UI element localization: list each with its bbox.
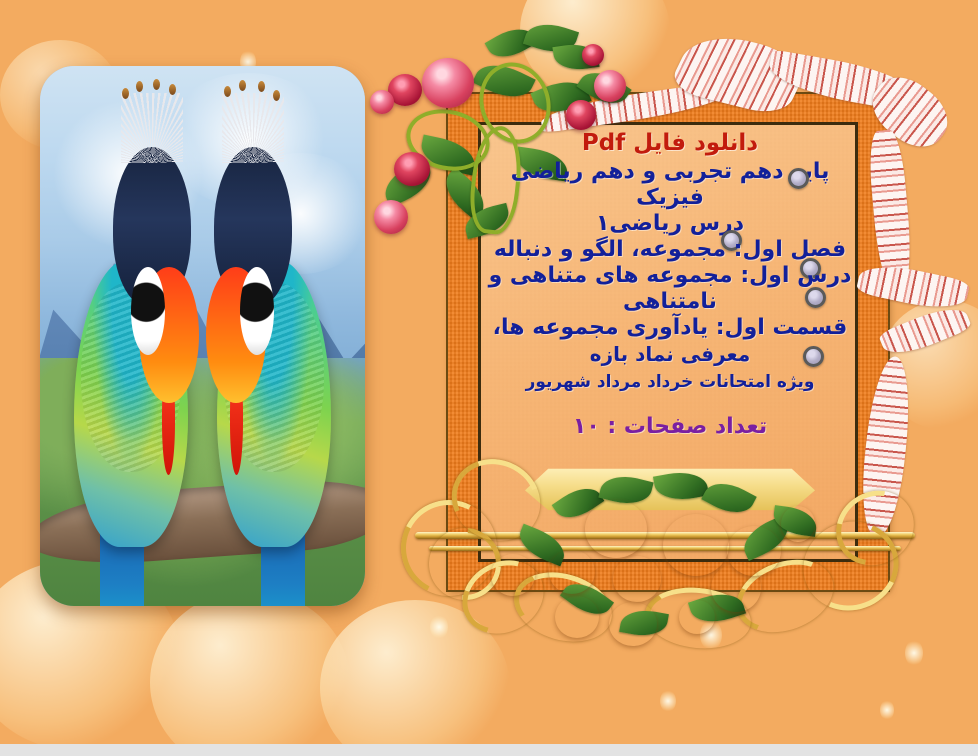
bird-crest [222,93,284,163]
bokeh-blob [150,590,350,744]
bird-eye [240,267,274,355]
poster-canvas: دانلود فایل Pdf پایه دهم تجربی و دهم ریا… [0,0,978,744]
bokeh-blob [880,300,978,430]
rose [394,152,430,186]
bird-left [66,147,196,547]
text-line-lesson-cont: نامتناهی [470,289,870,315]
rose [555,596,599,638]
text-line-exam-note: ویژه امتحانات خرداد مرداد شهریور [470,372,870,392]
rose [422,58,474,108]
sparkle [880,700,894,720]
text-line-lesson: درس اول: مجموعه های متناهی و [470,263,870,289]
bird-eye [131,267,165,355]
page-count: تعداد صفحات : ۱۰ [470,414,870,440]
rose [609,602,657,646]
bottom-gray-strip [0,744,978,756]
bird-photo [40,66,365,606]
gold-scroll-arm [642,583,754,654]
sparkle [905,640,923,666]
text-line-interval: معرفی نماد بازه [470,343,870,367]
bird-right [209,147,339,547]
rose [679,600,715,634]
page-title: دانلود فایل Pdf [470,130,870,157]
sparkle [430,615,448,639]
text-line-part: قسمت اول: یادآوری مجموعه ها، [470,315,870,341]
rose [370,90,394,114]
text-line-physics: فیزیک [470,185,870,211]
text-line-grade: پایه دهم تجربی و دهم ریاضی [470,159,870,185]
bird-crest [121,93,183,163]
poster-text-block: دانلود فایل Pdf پایه دهم تجربی و دهم ریا… [470,130,870,440]
rose [582,44,604,66]
bokeh-blob [320,600,510,744]
rose [594,70,626,102]
rose [374,200,408,234]
text-line-course: درس ریاضی۱ [470,211,870,237]
sparkle [700,620,722,650]
rose [566,100,596,130]
sparkle [660,690,676,712]
